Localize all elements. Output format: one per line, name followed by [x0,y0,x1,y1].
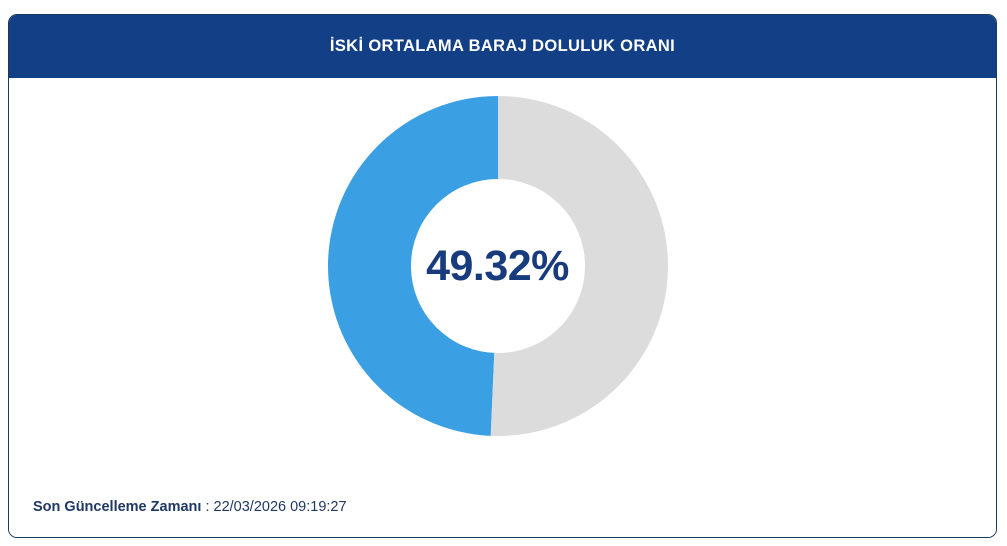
widget-body: 49.32% [9,78,996,538]
widget-header: İSKİ ORTALAMA BARAJ DOLULUK ORANI [9,15,996,78]
donut-hole [410,179,584,353]
donut-chart: 49.32% [9,78,996,478]
donut-chart-svg [328,96,668,436]
dam-occupancy-widget-card: İSKİ ORTALAMA BARAJ DOLULUK ORANI 49.32%… [8,14,997,538]
last-update-timestamp: 22/03/2026 09:19:27 [214,499,347,515]
last-update-separator: : [201,499,213,515]
last-update-label: Son Güncelleme Zamanı [33,499,201,515]
page-title: İSKİ ORTALAMA BARAJ DOLULUK ORANI [330,37,675,56]
last-update-footer: Son Güncelleme Zamanı : 22/03/2026 09:19… [9,499,996,515]
